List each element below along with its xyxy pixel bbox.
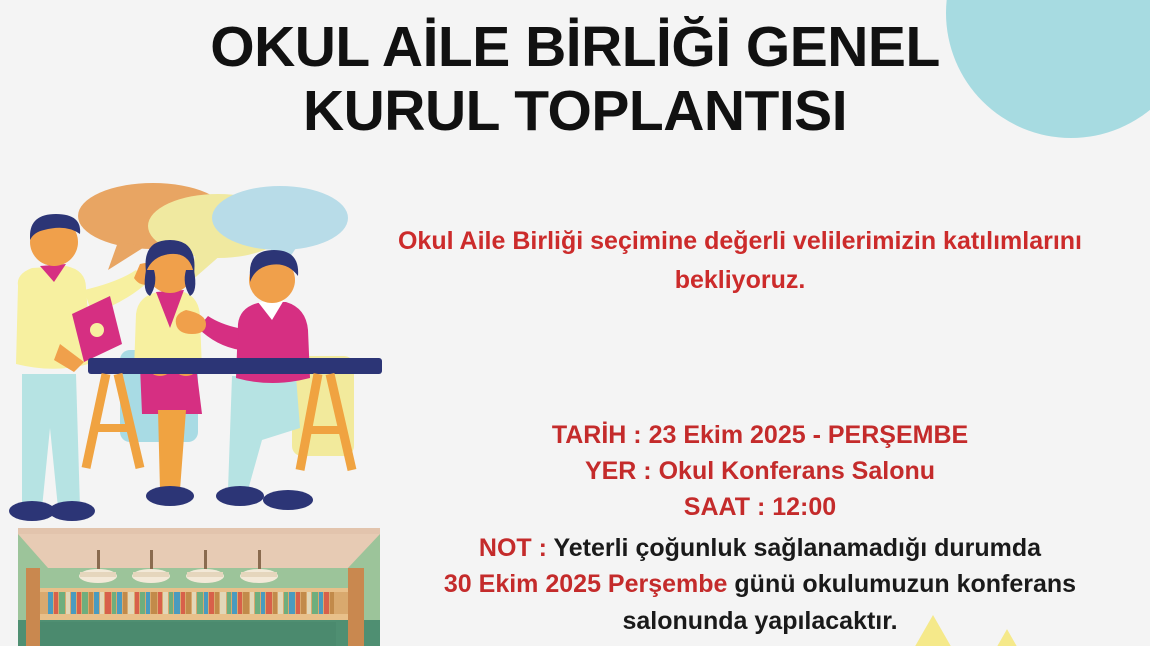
page-title-line-2: KURUL TOPLANTISI: [60, 80, 1090, 144]
date-value: 23 Ekim 2025 - PERŞEMBE: [649, 421, 969, 449]
date-label: TARİH :: [552, 421, 642, 449]
note-line-1: NOT : Yeterli çoğunluk sağlanamadığı dur…: [395, 530, 1125, 566]
star-icon: [908, 615, 958, 646]
note-line-2: 30 Ekim 2025 Perşembe günü okulumuzun ko…: [395, 566, 1125, 602]
note-highlight-date: 30 Ekim 2025 Perşembe: [444, 570, 728, 598]
intro-line-2: bekliyoruz.: [675, 266, 806, 294]
event-details: TARİH : 23 Ekim 2025 - PERŞEMBE YER : Ok…: [400, 418, 1120, 525]
meeting-people-illustration: [0, 178, 392, 528]
note-part-2: günü okulumuzun konferans: [734, 570, 1076, 598]
note-part-1: Yeterli çoğunluk sağlanamadığı durumda: [553, 534, 1041, 562]
star-icon: [987, 629, 1028, 646]
page-title-line-1: OKUL AİLE BİRLİĞİ GENEL: [210, 15, 940, 79]
detail-row-place: YER : Okul Konferans Salonu: [400, 454, 1120, 490]
page-title: OKUL AİLE BİRLİĞİ GENEL KURUL TOPLANTISI: [0, 16, 1150, 144]
intro-text: Okul Aile Birliği seçimine değerli velil…: [340, 222, 1140, 300]
place-label: YER :: [585, 457, 652, 485]
time-label: SAAT :: [684, 493, 765, 521]
school-conference-hall-illustration: [18, 528, 380, 646]
intro-line-1: Okul Aile Birliği seçimine değerli velil…: [398, 227, 1082, 255]
poster-canvas: OKUL AİLE BİRLİĞİ GENEL KURUL TOPLANTISI…: [0, 0, 1150, 646]
detail-row-date: TARİH : 23 Ekim 2025 - PERŞEMBE: [400, 418, 1120, 454]
note-label: NOT :: [479, 534, 547, 562]
time-value: 12:00: [772, 493, 836, 521]
note-part-3: salonunda yapılacaktır.: [622, 607, 897, 635]
bookshelf-books: [48, 592, 334, 614]
place-value: Okul Konferans Salonu: [659, 457, 935, 485]
star-group: [905, 610, 1075, 646]
detail-row-time: SAAT : 12:00: [400, 490, 1120, 526]
